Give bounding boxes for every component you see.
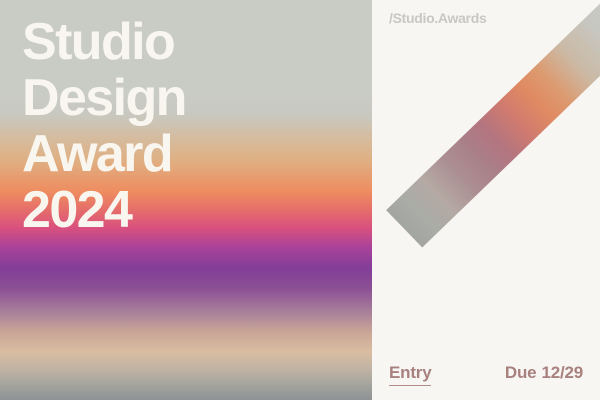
headline-line-4-year: 2024 (22, 182, 186, 238)
due-date-label: Due12/29 (505, 363, 583, 383)
headline-line-2: Design (22, 70, 186, 126)
diagonal-gradient-bar-icon (386, 0, 600, 248)
due-word: Due (505, 363, 537, 382)
entry-link[interactable]: Entry (389, 363, 431, 386)
headline-line-3: Award (22, 126, 186, 182)
headline-line-1: Studio (22, 14, 186, 70)
footer-bar: Entry Due12/29 (372, 363, 600, 386)
page-title: Studio Design Award 2024 (22, 14, 186, 238)
award-poster: Studio Design Award 2024 /Studio.Awards … (0, 0, 600, 400)
left-gradient-panel: Studio Design Award 2024 (0, 0, 372, 400)
right-info-panel: /Studio.Awards Entry Due12/29 (372, 0, 600, 400)
brand-wordmark: /Studio.Awards (389, 10, 486, 26)
due-date-value: 12/29 (541, 363, 583, 382)
